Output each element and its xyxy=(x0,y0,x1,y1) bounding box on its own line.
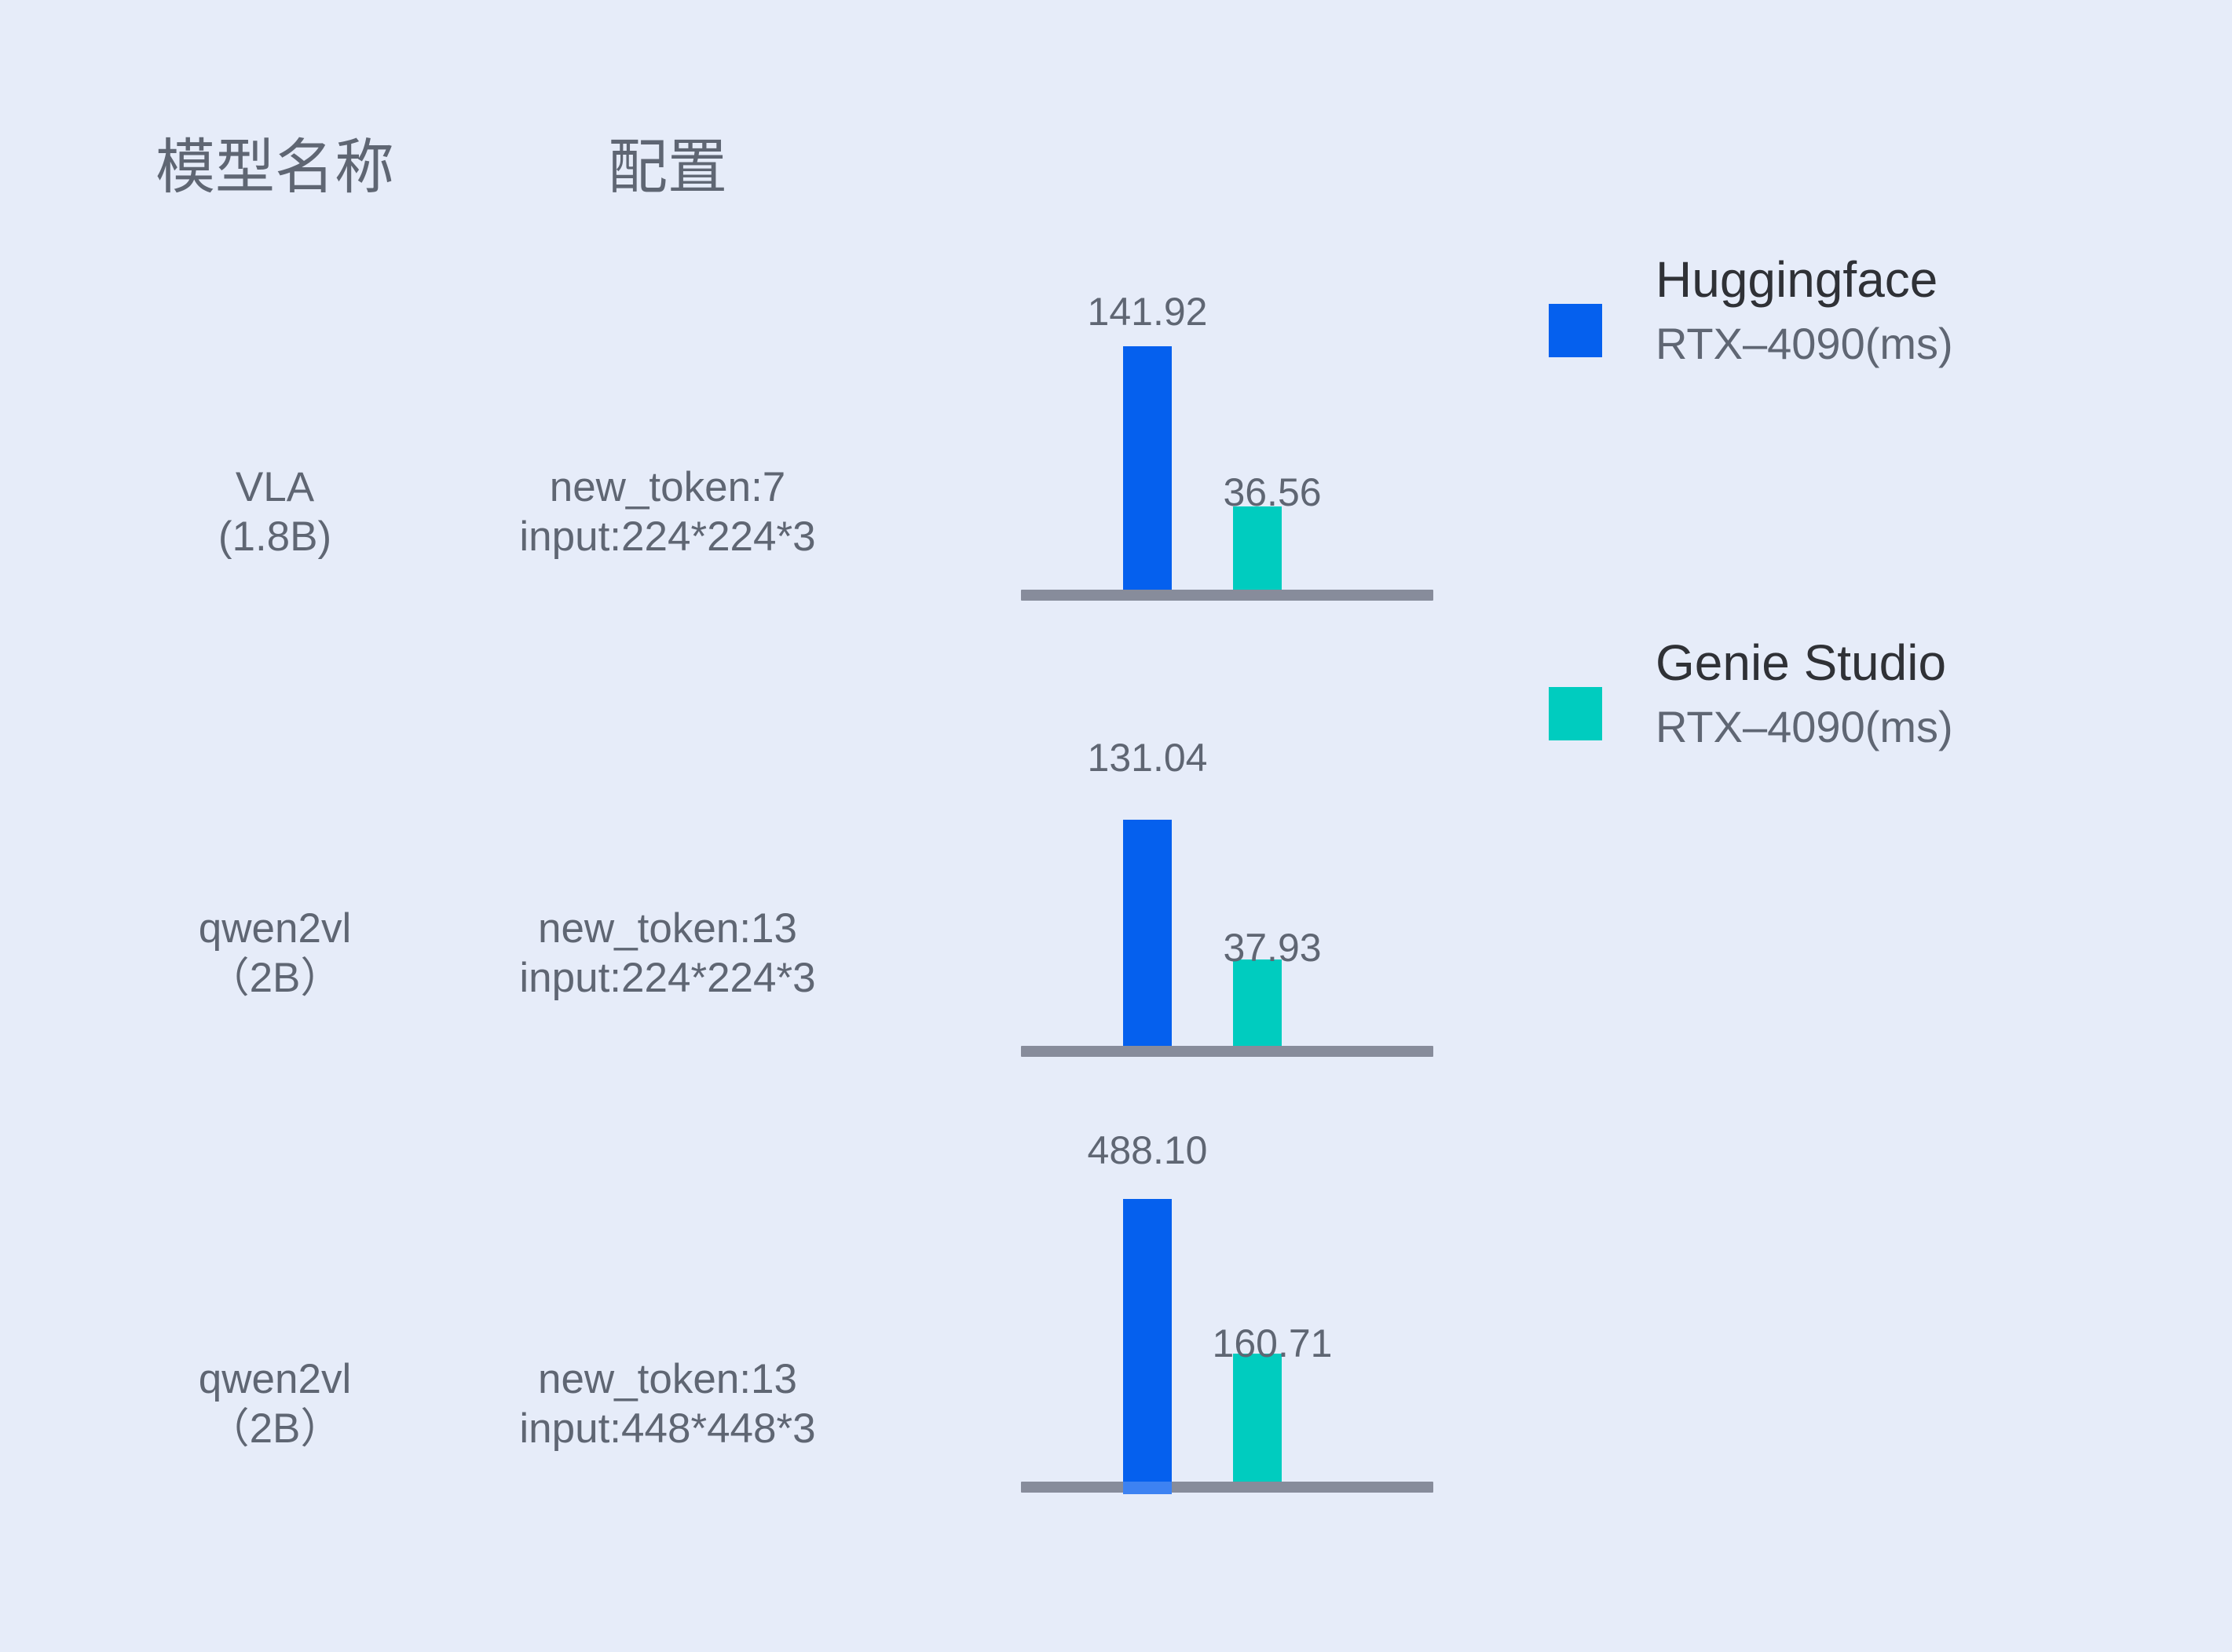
legend-color-swatch-icon xyxy=(1549,304,1602,357)
bar-genie-studio[interactable] xyxy=(1233,506,1282,590)
legend-item-sublabel: RTX–4090(ms) xyxy=(1656,704,2142,749)
axis-baseline xyxy=(1021,590,1433,601)
legend-color-swatch-icon xyxy=(1549,687,1602,740)
legend-item-genie-studio[interactable]: Genie Studio RTX–4090(ms) xyxy=(1539,440,2168,644)
row-model-line2: （2B） xyxy=(102,954,448,1003)
bar-value-genie-studio: 160.71 xyxy=(1170,1324,1374,1363)
row-model-line1: VLA xyxy=(102,463,448,513)
legend-item-text: Genie Studio RTX–4090(ms) xyxy=(1656,638,2142,749)
chart-canvas: 模型名称 配置 VLA (1.8B) new_token:7 input:224… xyxy=(0,0,2232,1652)
bar-genie-studio[interactable] xyxy=(1233,1354,1282,1482)
row-model-label: VLA (1.8B) xyxy=(102,463,448,561)
legend-item-label: Genie Studio xyxy=(1656,638,2142,689)
bar-genie-studio[interactable] xyxy=(1233,959,1282,1046)
row-config-line2: input:224*224*3 xyxy=(448,513,887,562)
row-config-label: new_token:13 input:224*224*3 xyxy=(448,905,887,1003)
bar-value-huggingface: 141.92 xyxy=(1045,292,1250,331)
row-model-line1: qwen2vl xyxy=(102,905,448,954)
row-config-line1: new_token:7 xyxy=(448,463,887,513)
row-config-line2: input:448*448*3 xyxy=(448,1405,887,1454)
legend-item-label: Huggingface xyxy=(1656,254,2142,305)
legend-item-huggingface[interactable]: Huggingface RTX–4090(ms) xyxy=(1539,236,2168,440)
row-config-line1: new_token:13 xyxy=(448,1355,887,1405)
column-header-model-name: 模型名称 xyxy=(79,138,471,198)
row-config-line2: input:224*224*3 xyxy=(448,954,887,1003)
row-model-line2: （2B） xyxy=(102,1405,448,1454)
row-model-line1: qwen2vl xyxy=(102,1355,448,1405)
chart-legend: Huggingface RTX–4090(ms) Genie Studio RT… xyxy=(1539,236,2168,644)
legend-item-text: Huggingface RTX–4090(ms) xyxy=(1656,254,2142,366)
axis-baseline xyxy=(1021,1482,1433,1493)
row-model-label: qwen2vl （2B） xyxy=(102,905,448,1003)
bar-value-genie-studio: 37.93 xyxy=(1170,928,1374,967)
legend-item-sublabel: RTX–4090(ms) xyxy=(1656,321,2142,366)
row-config-line1: new_token:13 xyxy=(448,905,887,954)
row-config-label: new_token:13 input:448*448*3 xyxy=(448,1355,887,1453)
bar-value-huggingface: 131.04 xyxy=(1045,738,1250,777)
bar-value-huggingface: 488.10 xyxy=(1045,1131,1250,1170)
row-model-label: qwen2vl （2B） xyxy=(102,1355,448,1453)
bar-value-genie-studio: 36.56 xyxy=(1170,473,1374,512)
bar-huggingface[interactable] xyxy=(1123,1199,1172,1482)
row-config-label: new_token:7 input:224*224*3 xyxy=(448,463,887,561)
column-header-config: 配置 xyxy=(471,138,864,198)
bar-huggingface[interactable] xyxy=(1123,346,1172,590)
row-model-line2: (1.8B) xyxy=(102,513,448,562)
bar-huggingface[interactable] xyxy=(1123,820,1172,1046)
axis-baseline xyxy=(1021,1046,1433,1057)
